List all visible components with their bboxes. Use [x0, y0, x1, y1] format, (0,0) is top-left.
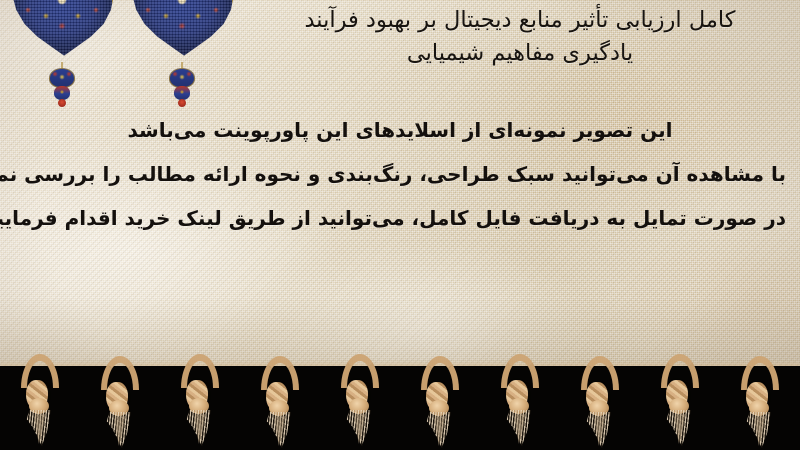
slide-body-line-1: این تصویر نمونه‌ای از اسلایدهای این پاور…: [14, 108, 786, 152]
fringe-tassel: [497, 368, 543, 450]
slide-body: این تصویر نمونه‌ای از اسلایدهای این پاور…: [14, 108, 786, 240]
slide-title-line-1: کامل ارزیابی تأثیر منابع دیجیتال بر بهبو…: [250, 4, 790, 37]
fringe-tassel: [257, 370, 303, 450]
slide-body-line-3: در صورت تمایل به دریافت فایل کامل، می‌تو…: [14, 196, 786, 240]
fringe-tassel: [577, 370, 623, 450]
slide-text-layer: کامل ارزیابی تأثیر منابع دیجیتال بر بهبو…: [0, 0, 800, 380]
fringe-tassel: [97, 370, 143, 450]
carpet-fringe-band: [0, 366, 800, 450]
fringe-tassel: [337, 368, 383, 450]
fringe-tassel: [17, 368, 63, 450]
fringe-tassel: [737, 370, 783, 450]
fringe-tassel: [657, 368, 703, 450]
slide-title: کامل ارزیابی تأثیر منابع دیجیتال بر بهبو…: [250, 4, 790, 70]
slide-title-line-2: یادگیری مفاهیم شیمیایی: [250, 37, 790, 70]
slide-body-line-2: با مشاهده آن می‌توانید سبک طراحی، رنگ‌بن…: [14, 152, 786, 196]
presentation-slide: کامل ارزیابی تأثیر منابع دیجیتال بر بهبو…: [0, 0, 800, 450]
fringe-tassel: [177, 368, 223, 450]
fringe-tassel: [417, 370, 463, 450]
